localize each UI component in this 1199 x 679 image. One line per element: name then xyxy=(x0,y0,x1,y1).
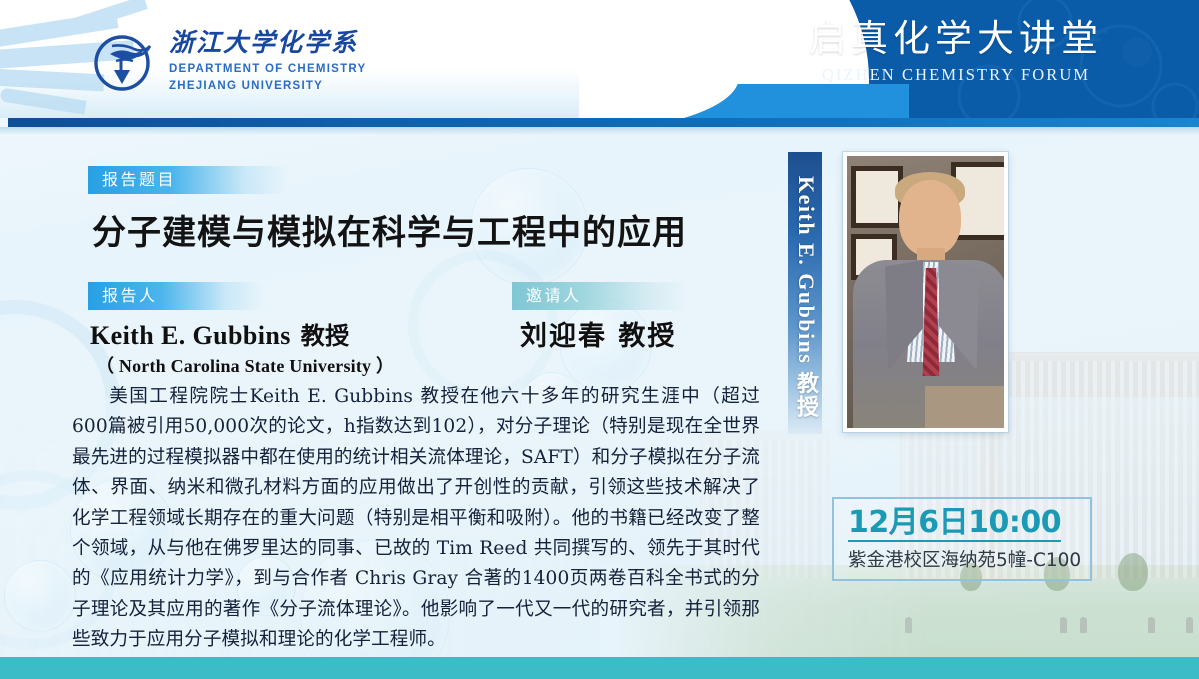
poster-header: 浙江大学化学系 DEPARTMENT OF CHEMISTRY ZHEJIANG… xyxy=(0,0,1199,118)
abstract-text: 美国工程院院士Keith E. Gubbins 教授在他六十多年的研究生涯中（超… xyxy=(72,382,760,656)
footer-bar xyxy=(0,657,1199,679)
event-details-box: 12月6日10:00 紫金港校区海纳苑5幢-C100 xyxy=(832,497,1092,581)
inviter-name: 刘迎春 教授 xyxy=(520,314,676,353)
seminar-poster: 浙江大学化学系 DEPARTMENT OF CHEMISTRY ZHEJIANG… xyxy=(0,0,1199,679)
zju-chemistry-logo: 浙江大学化学系 DEPARTMENT OF CHEMISTRY ZHEJIANG… xyxy=(92,30,366,95)
logo-org-cn: 浙江大学化学系 xyxy=(169,30,366,56)
inviter-label: 邀请人 xyxy=(512,282,687,310)
speaker-affiliation: （ North Carolina State University ） xyxy=(96,352,394,378)
event-datetime: 12月6日10:00 xyxy=(848,506,1061,542)
talk-title-label: 报告题目 xyxy=(88,166,288,194)
speaker-name: Keith E. Gubbins教授 xyxy=(90,316,350,351)
logo-org-en-line2: ZHEJIANG UNIVERSITY xyxy=(169,78,366,95)
speaker-name-title: 教授 xyxy=(301,321,350,350)
talk-title: 分子建模与模拟在科学与工程中的应用 xyxy=(92,205,792,254)
forum-title-block: 启真化学大讲堂 QIZHEN CHEMISTRY FORUM xyxy=(809,18,1103,85)
speaker-name-en: Keith E. Gubbins xyxy=(90,321,291,350)
speaker-label: 报告人 xyxy=(88,282,263,310)
header-divider-rule xyxy=(8,118,1199,127)
event-venue: 紫金港校区海纳苑5幢-C100 xyxy=(848,550,1090,572)
zju-eagle-emblem-icon xyxy=(92,30,156,94)
vertical-speaker-name: Keith E. Gubbins 教授 xyxy=(788,152,822,434)
speaker-portrait xyxy=(843,152,1008,432)
header-divider-shadow xyxy=(0,127,1199,135)
forum-title-en: QIZHEN CHEMISTRY FORUM xyxy=(809,65,1103,85)
forum-title-cn: 启真化学大讲堂 xyxy=(809,18,1103,61)
logo-org-en-line1: DEPARTMENT OF CHEMISTRY xyxy=(169,61,366,78)
